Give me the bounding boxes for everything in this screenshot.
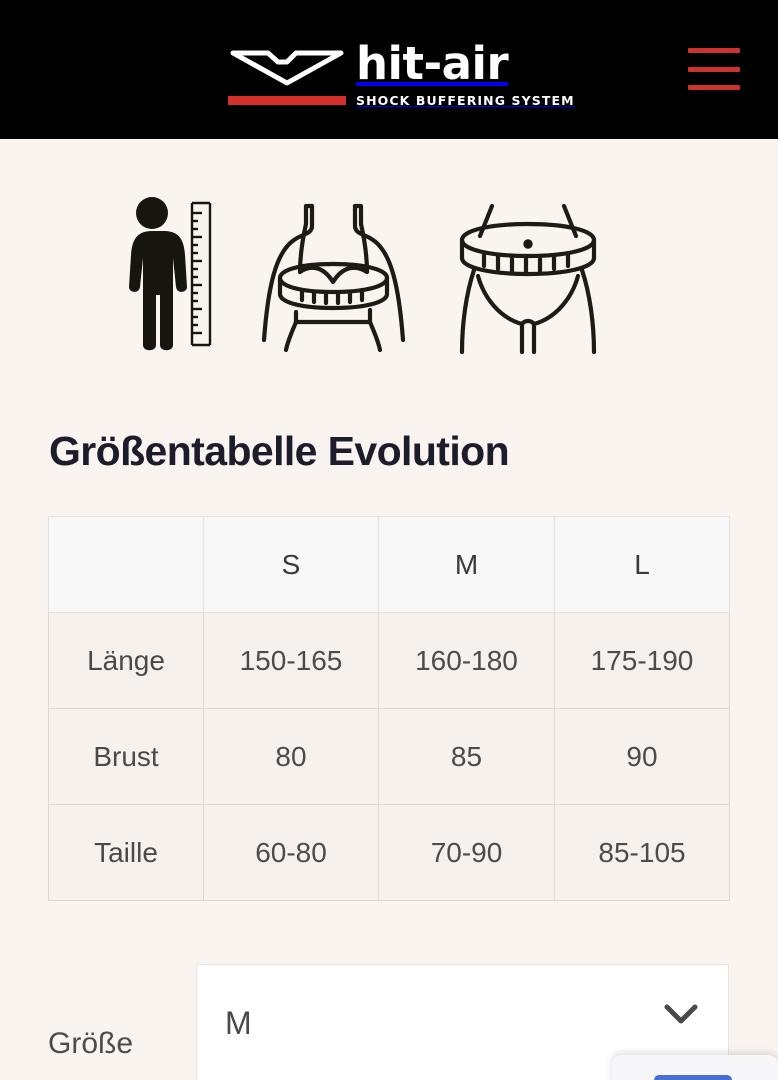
hamburger-bar-1: [688, 48, 740, 53]
waist-measurement-icon: [448, 198, 608, 358]
measurement-icon-strip: [0, 190, 778, 365]
size-table: S M L Länge 150-165 160-180 175-190 Brus…: [48, 516, 730, 901]
hamburger-bar-2: [688, 67, 740, 72]
floating-chat-widget[interactable]: [612, 1055, 778, 1080]
page-title: Größentabelle Evolution: [49, 424, 509, 478]
table-row: Länge 150-165 160-180 175-190: [49, 613, 730, 709]
size-table-body: Länge 150-165 160-180 175-190 Brust 80 8…: [49, 613, 730, 901]
cell-laenge-s: 150-165: [204, 613, 379, 709]
cell-taille-s: 60-80: [204, 805, 379, 901]
size-select-label: Größe: [48, 1027, 196, 1061]
table-row: Taille 60-80 70-90 85-105: [49, 805, 730, 901]
table-corner-cell: [49, 517, 204, 613]
hamburger-bar-3: [688, 85, 740, 90]
row-label-taille: Taille: [49, 805, 204, 901]
row-label-brust: Brust: [49, 709, 204, 805]
table-header-l: L: [555, 517, 730, 613]
size-select-value: M: [225, 1005, 252, 1042]
size-table-header: S M L: [49, 517, 730, 613]
cell-brust-l: 90: [555, 709, 730, 805]
table-row: Brust 80 85 90: [49, 709, 730, 805]
cell-taille-l: 85-105: [555, 805, 730, 901]
chevron-down-icon: [664, 1003, 698, 1025]
size-table-container: S M L Länge 150-165 160-180 175-190 Brus…: [48, 516, 729, 901]
cell-laenge-m: 160-180: [379, 613, 555, 709]
table-header-row: S M L: [49, 517, 730, 613]
table-header-m: M: [379, 517, 555, 613]
logo-red-rule: [228, 96, 346, 105]
cell-brust-m: 85: [379, 709, 555, 805]
row-label-laenge: Länge: [49, 613, 204, 709]
floating-widget-button[interactable]: [654, 1075, 732, 1080]
logo-tagline: SHOCK BUFFERING SYSTEM: [356, 93, 575, 108]
hamburger-menu-icon[interactable]: [688, 48, 740, 90]
cell-taille-m: 70-90: [379, 805, 555, 901]
cell-laenge-l: 175-190: [555, 613, 730, 709]
body-height-ruler-icon: [126, 195, 214, 355]
site-logo[interactable]: hit-air SHOCK BUFFERING SYSTEM: [228, 34, 550, 108]
cell-brust-s: 80: [204, 709, 379, 805]
bust-measurement-icon: [246, 190, 421, 355]
logo-wordmark: hit-air: [356, 41, 508, 86]
hit-air-swoosh-logo-icon: [228, 40, 346, 86]
table-header-s: S: [204, 517, 379, 613]
site-header: hit-air SHOCK BUFFERING SYSTEM: [0, 0, 778, 139]
